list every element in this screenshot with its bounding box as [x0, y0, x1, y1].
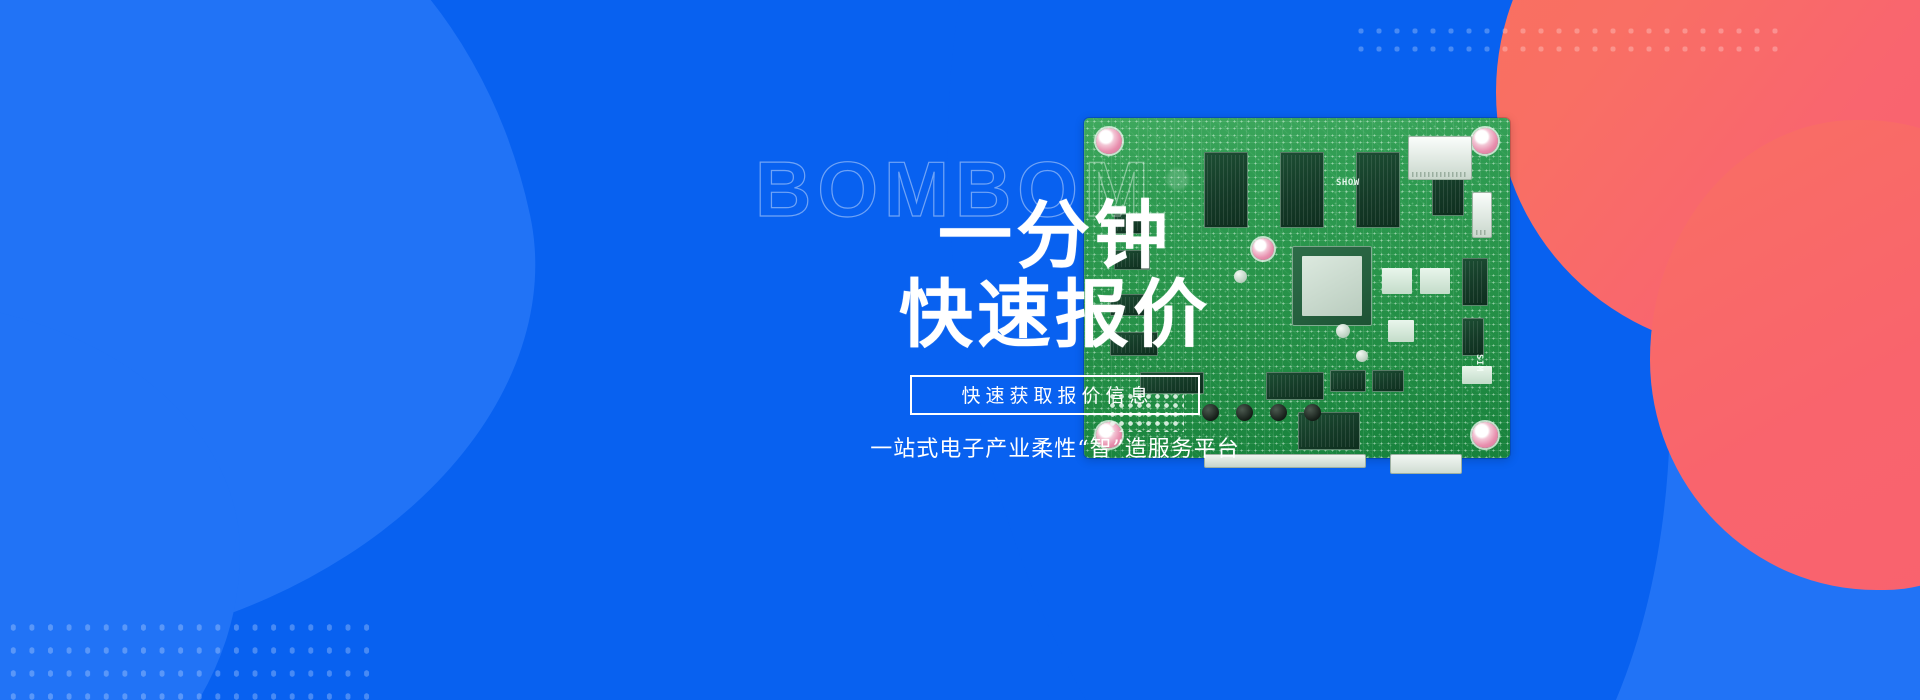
headline-group: 一分钟 快速报价 快速获取报价信息 一站式电子产业柔性“智”造服务平台: [745, 150, 1365, 463]
get-quote-button[interactable]: 快速获取报价信息: [910, 375, 1200, 415]
pcb-ic-chip: [1462, 318, 1484, 356]
pcb-inductor: [1420, 268, 1450, 294]
dot-grid-bottom-left: [4, 616, 382, 700]
headline-line-1: 一分钟: [745, 198, 1365, 273]
dot-grid-top-right: [1352, 22, 1780, 58]
promo-banner: SHOW SIM BOMBOM 一分钟 快速报价 快速获取报价信息 一站式电子产…: [0, 0, 1920, 700]
pcb-mount-hole: [1472, 128, 1498, 154]
pcb-inductor: [1382, 268, 1412, 294]
pcb-mount-hole: [1472, 422, 1498, 448]
pcb-bottom-module: [1390, 454, 1462, 474]
pcb-ic-chip: [1462, 258, 1488, 306]
pcb-silk-label-sim: SIM: [1474, 354, 1484, 372]
tagline-text: 一站式电子产业柔性“智”造服务平台: [745, 431, 1365, 463]
get-quote-button-label: 快速获取报价信息: [956, 381, 1153, 408]
pcb-sim-connector: [1408, 136, 1472, 180]
pcb-ic-chip: [1372, 370, 1404, 392]
headline-line-2: 快速报价: [745, 277, 1365, 352]
pcb-inductor: [1388, 320, 1414, 342]
pcb-header-connector: [1472, 192, 1492, 238]
